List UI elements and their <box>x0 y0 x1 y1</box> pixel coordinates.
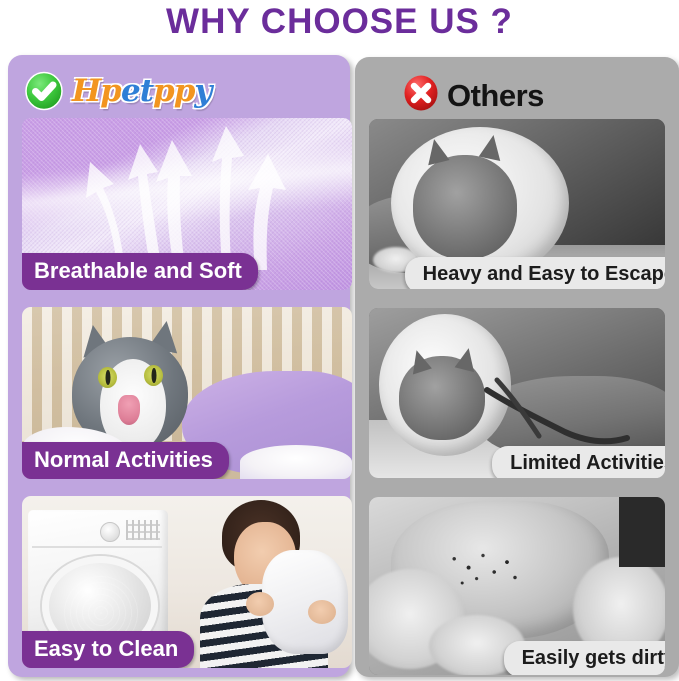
bad-card-label-limited-activities: Limited Activities <box>492 446 665 478</box>
bad-panel-header: Others <box>401 69 544 121</box>
page-title: WHY CHOOSE US ? <box>0 2 679 42</box>
good-card-label-easy-to-clean: Easy to Clean <box>22 631 194 668</box>
good-card-easy-to-clean[interactable]: Easy to Clean <box>22 496 352 668</box>
good-panel: Hpetppy Breathable and Soft <box>8 55 350 677</box>
brand-logo-part3: pp <box>153 73 194 109</box>
bad-card-label-heavy-escape: Heavy and Easy to Escape <box>405 257 665 289</box>
good-card-label-breathable: Breathable and Soft <box>22 253 258 290</box>
brand-logo-part1: Hp <box>72 73 121 109</box>
brand-logo: Hpetppy <box>72 76 211 107</box>
good-card-breathable[interactable]: Breathable and Soft <box>22 118 352 290</box>
good-card-normal-activities[interactable]: Normal Activities <box>22 307 352 479</box>
bad-card-limited-activities[interactable]: Limited Activities <box>369 308 665 478</box>
bad-card-heavy-escape[interactable]: Heavy and Easy to Escape <box>369 119 665 289</box>
bad-panel: Others Heavy and Easy to Escape <box>355 57 679 677</box>
check-circle-icon <box>22 69 66 118</box>
brand-logo-part4: y <box>194 73 211 109</box>
bad-card-label-easily-dirty: Easily gets dirty <box>504 641 665 675</box>
brand-logo-part2: et <box>121 73 153 109</box>
good-card-label-normal-activities: Normal Activities <box>22 442 229 479</box>
bad-card-easily-dirty[interactable]: Easily gets dirty <box>369 497 665 675</box>
good-panel-header: Hpetppy <box>22 67 211 119</box>
cross-circle-icon <box>401 73 441 118</box>
others-heading: Others <box>447 80 544 111</box>
